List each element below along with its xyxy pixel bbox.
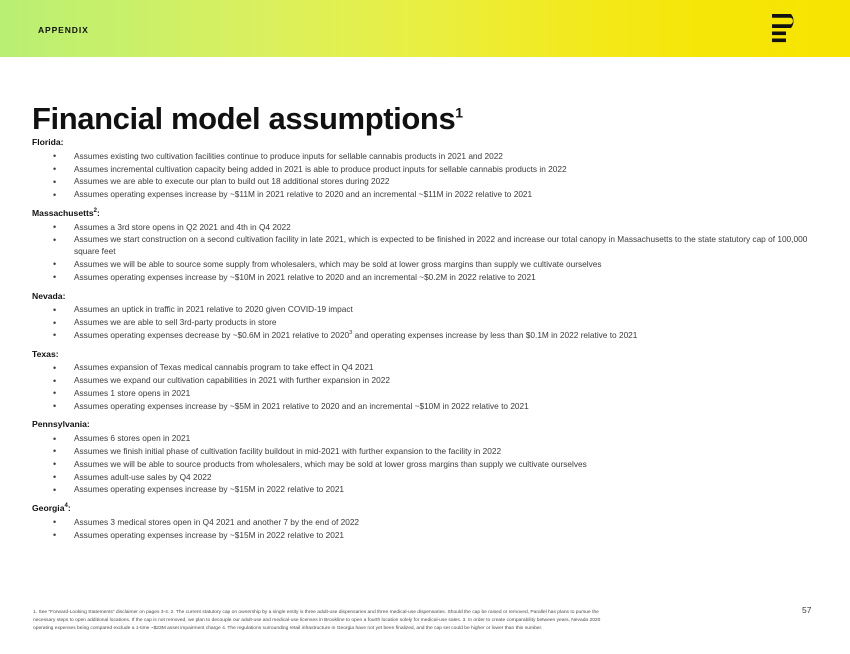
list-item: Assumes adult-use sales by Q4 2022 xyxy=(32,472,822,484)
footnote-line-2: necessary steps to open additional locat… xyxy=(33,617,790,625)
list-item: Assumes operating expenses increase by ~… xyxy=(32,272,822,284)
bullet-text-after: and operating expenses increase by less … xyxy=(352,330,637,340)
slide-canvas: APPENDIX Financial model assumptions1 Fl… xyxy=(0,0,850,654)
page-title-superscript: 1 xyxy=(455,104,463,120)
state-block-massachusetts: Massachusetts2: Assumes a 3rd store open… xyxy=(32,208,822,284)
list-item: Assumes a 3rd store opens in Q2 2021 and… xyxy=(32,222,822,234)
state-block-nevada: Nevada: Assumes an uptick in traffic in … xyxy=(32,291,822,342)
list-item: Assumes we expand our cultivation capabi… xyxy=(32,375,822,387)
list-item: Assumes we will be able to source some s… xyxy=(32,259,822,271)
state-heading-suffix: : xyxy=(68,503,71,513)
list-item: Assumes operating expenses increase by ~… xyxy=(32,530,822,542)
list-item: Assumes incremental cultivation capacity… xyxy=(32,164,822,176)
list-item: Assumes operating expenses increase by ~… xyxy=(32,401,822,413)
list-item: Assumes operating expenses decrease by ~… xyxy=(32,330,822,342)
bullet-list-nevada: Assumes an uptick in traffic in 2021 rel… xyxy=(32,304,822,341)
state-heading-nevada: Nevada: xyxy=(32,291,822,302)
list-item: Assumes 1 store opens in 2021 xyxy=(32,388,822,400)
list-item: Assumes 3 medical stores open in Q4 2021… xyxy=(32,517,822,529)
list-item: Assumes operating expenses increase by ~… xyxy=(32,484,822,496)
state-heading-florida: Florida: xyxy=(32,137,822,148)
list-item: Assumes we will be able to source produc… xyxy=(32,459,822,471)
list-item: Assumes we are able to execute our plan … xyxy=(32,176,822,188)
bullet-list-texas: Assumes expansion of Texas medical canna… xyxy=(32,362,822,412)
parallel-p-logo-icon xyxy=(770,12,806,46)
list-item: Assumes existing two cultivation facilit… xyxy=(32,151,822,163)
list-item: Assumes 6 stores open in 2021 xyxy=(32,433,822,445)
appendix-eyebrow-label: APPENDIX xyxy=(38,26,89,35)
list-item: Assumes expansion of Texas medical canna… xyxy=(32,362,822,374)
state-block-pennsylvania: Pennsylvania: Assumes 6 stores open in 2… xyxy=(32,419,822,496)
state-heading-pennsylvania: Pennsylvania: xyxy=(32,419,822,430)
bullet-text-before: Assumes operating expenses decrease by ~… xyxy=(74,330,349,340)
list-item: Assumes an uptick in traffic in 2021 rel… xyxy=(32,304,822,316)
state-block-florida: Florida: Assumes existing two cultivatio… xyxy=(32,137,822,201)
state-heading-text: Georgia xyxy=(32,503,64,513)
state-heading-georgia: Georgia4: xyxy=(32,503,822,514)
state-heading-texas: Texas: xyxy=(32,349,822,360)
state-heading-suffix: : xyxy=(97,208,100,218)
page-title-text: Financial model assumptions xyxy=(32,101,455,136)
bullet-list-georgia: Assumes 3 medical stores open in Q4 2021… xyxy=(32,517,822,542)
footnote-line-3: operating expenses being compared exclud… xyxy=(33,625,790,633)
list-item: Assumes we are able to sell 3rd-party pr… xyxy=(32,317,822,329)
state-block-texas: Texas: Assumes expansion of Texas medica… xyxy=(32,349,822,413)
state-heading-massachusetts: Massachusetts2: xyxy=(32,208,822,219)
footnote-line-1: 1. See “Forward-Looking Statements” disc… xyxy=(33,609,790,617)
list-item: Assumes we start construction on a secon… xyxy=(32,234,822,258)
bullet-list-florida: Assumes existing two cultivation facilit… xyxy=(32,151,822,201)
footnote-disclaimer: 1. See “Forward-Looking Statements” disc… xyxy=(33,609,790,633)
bullet-list-pennsylvania: Assumes 6 stores open in 2021 Assumes we… xyxy=(32,433,822,496)
list-item: Assumes we finish initial phase of culti… xyxy=(32,446,822,458)
header-band: APPENDIX xyxy=(0,0,850,57)
bullet-list-massachusetts: Assumes a 3rd store opens in Q2 2021 and… xyxy=(32,222,822,284)
state-block-georgia: Georgia4: Assumes 3 medical stores open … xyxy=(32,503,822,541)
state-heading-text: Massachusetts xyxy=(32,208,94,218)
assumptions-content: Florida: Assumes existing two cultivatio… xyxy=(32,137,822,548)
list-item: Assumes operating expenses increase by ~… xyxy=(32,189,822,201)
page-title: Financial model assumptions1 xyxy=(32,103,463,136)
page-number: 57 xyxy=(802,606,811,615)
